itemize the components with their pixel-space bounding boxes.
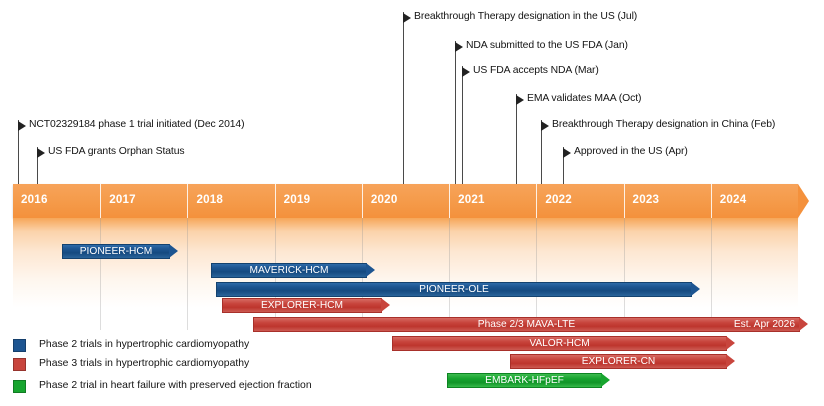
legend-label: Phase 2 trials in hypertrophic cardiomyo… [39, 337, 249, 353]
legend-label: Phase 3 trials in hypertrophic cardiomyo… [39, 356, 249, 372]
milestone-marker-triangle-icon [455, 42, 463, 52]
bar-label: EXPLORER-HCM [222, 298, 382, 313]
gantt-plot-area [13, 218, 798, 330]
milestone-marker-triangle-icon [403, 13, 411, 23]
milestone-label: EMA validates MAA (Oct) [527, 92, 641, 106]
milestone-marker-triangle-icon [541, 121, 549, 131]
grid-line [536, 218, 537, 330]
milestone-label: NDA submitted to the US FDA (Jan) [466, 39, 628, 53]
year-label: 2023 [633, 193, 660, 206]
grid-line [711, 218, 712, 330]
year-label: 2024 [720, 193, 747, 206]
legend-color-swatch [13, 358, 26, 371]
gantt-bar-phase-2-3-mava-lte[interactable]: Phase 2/3 MAVA-LTEEst. Apr 2026 [253, 317, 808, 332]
bar-arrowhead-icon [366, 263, 375, 277]
gantt-bar-valor-hcm[interactable]: VALOR-HCM [392, 336, 735, 351]
grid-line [449, 218, 450, 330]
bar-arrowhead-icon [601, 373, 610, 387]
bar-label: VALOR-HCM [392, 336, 727, 351]
milestone-marker-triangle-icon [563, 148, 571, 158]
year-label: 2016 [21, 193, 48, 206]
milestone-marker-triangle-icon [18, 121, 26, 131]
grid-line [100, 218, 101, 330]
grid-line [624, 218, 625, 330]
milestone-marker-triangle-icon [462, 67, 470, 77]
bar-arrowhead-icon [169, 244, 178, 258]
legend-color-swatch [13, 339, 26, 352]
legend-label: Phase 2 trial in heart failure with pres… [39, 378, 312, 394]
gantt-bar-maverick-hcm[interactable]: MAVERICK-HCM [211, 263, 375, 278]
year-label: 2022 [545, 193, 572, 206]
legend-color-swatch [13, 380, 26, 393]
milestone-connector-line [462, 66, 463, 184]
bar-label: PIONEER-OLE [216, 282, 692, 297]
year-cell-2022: 2022 [536, 184, 623, 218]
bar-estimate-label: Est. Apr 2026 [734, 317, 798, 332]
milestone-connector-line [516, 94, 517, 184]
bar-label: EXPLORER-CN [510, 354, 727, 369]
gantt-bar-embark-hfpef[interactable]: EMBARK-HFpEF [447, 373, 610, 388]
year-label: 2018 [196, 193, 223, 206]
milestone-label: US FDA accepts NDA (Mar) [473, 64, 599, 78]
year-label: 2019 [284, 193, 311, 206]
year-cell-2018: 2018 [187, 184, 274, 218]
timeline-chart: Breakthrough Therapy designation in the … [0, 0, 824, 406]
year-label: 2017 [109, 193, 136, 206]
bar-label: PIONEER-HCM [62, 244, 170, 259]
bar-arrowhead-icon [691, 282, 700, 296]
milestone-label: US FDA grants Orphan Status [48, 145, 184, 159]
year-cell-2024: 2024 [711, 184, 798, 218]
milestone-label: NCT02329184 phase 1 trial initiated (Dec… [29, 118, 244, 132]
year-cell-2017: 2017 [100, 184, 187, 218]
milestone-marker-triangle-icon [516, 95, 524, 105]
gantt-bar-pioneer-ole[interactable]: PIONEER-OLE [216, 282, 700, 297]
bar-arrowhead-icon [726, 336, 735, 350]
year-label: 2020 [371, 193, 398, 206]
milestone-label: Breakthrough Therapy designation in Chin… [552, 118, 775, 132]
milestone-label: Breakthrough Therapy designation in the … [414, 10, 637, 24]
year-cell-2023: 2023 [624, 184, 711, 218]
gantt-bar-pioneer-hcm[interactable]: PIONEER-HCM [62, 244, 178, 259]
bar-arrowhead-icon [381, 298, 390, 312]
milestone-connector-line [455, 41, 456, 184]
year-cell-2020: 2020 [362, 184, 449, 218]
year-cell-2016: 2016 [13, 184, 100, 218]
bar-arrowhead-icon [799, 317, 808, 331]
grid-line [187, 218, 188, 330]
year-cell-2021: 2021 [449, 184, 536, 218]
milestone-label: Approved in the US (Apr) [574, 145, 688, 159]
year-label: 2021 [458, 193, 485, 206]
milestone-marker-triangle-icon [37, 148, 45, 158]
milestone-connector-line [403, 12, 404, 184]
bar-label: Phase 2/3 MAVA-LTE [253, 317, 800, 332]
axis-arrow-icon [798, 184, 809, 218]
bar-label: EMBARK-HFpEF [447, 373, 602, 388]
gantt-bar-explorer-hcm[interactable]: EXPLORER-HCM [222, 298, 390, 313]
bar-arrowhead-icon [726, 354, 735, 368]
year-cell-2019: 2019 [275, 184, 362, 218]
bar-label: MAVERICK-HCM [211, 263, 367, 278]
gantt-bar-explorer-cn[interactable]: EXPLORER-CN [510, 354, 735, 369]
year-axis: 201620172018201920202021202220232024 [13, 184, 798, 218]
